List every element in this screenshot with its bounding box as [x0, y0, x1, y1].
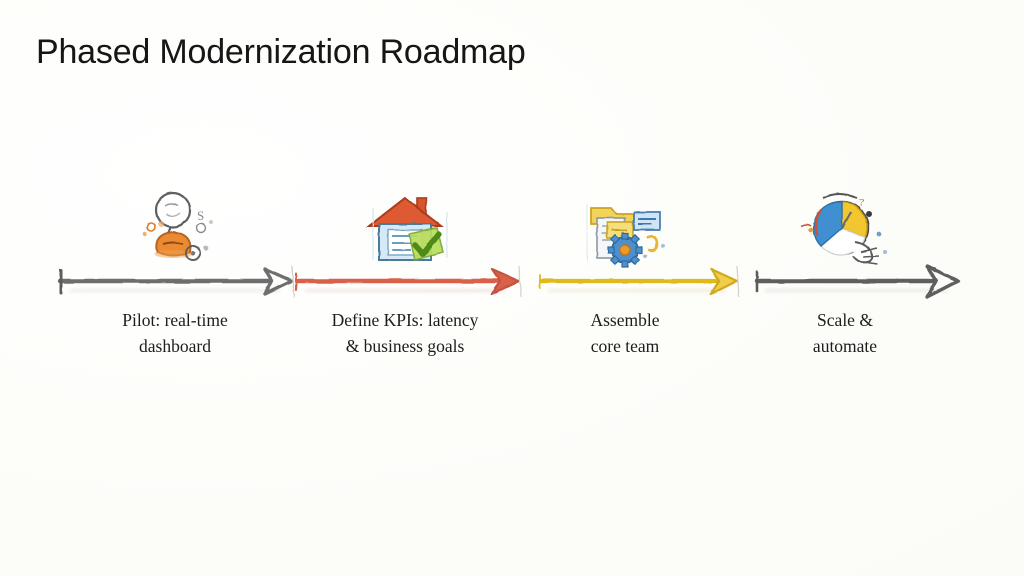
- person-with-speech-bubble-icon: S: [55, 190, 295, 270]
- stage-1-label-line1: Pilot: real-time: [122, 310, 227, 330]
- stage-2-label-line1: Define KPIs: latency: [332, 310, 479, 330]
- stage-1-label-line2: dashboard: [55, 334, 295, 360]
- stage-3-label-line2: core team: [505, 334, 745, 360]
- stage-2-label-line2: & business goals: [285, 334, 525, 360]
- stage-1-label: Pilot: real-time dashboard: [55, 308, 295, 360]
- stage-4-label-line2: automate: [725, 334, 965, 360]
- page-title: Phased Modernization Roadmap: [36, 33, 526, 72]
- pie-chart-clock-hand-icon: ?: [725, 190, 965, 270]
- diagram-canvas: Phased Modernization Roadmap: [0, 0, 1024, 576]
- stage-4-label-line1: Scale &: [817, 310, 873, 330]
- svg-text:S: S: [197, 208, 204, 223]
- stage-3-label-line1: Assemble: [590, 310, 659, 330]
- stage-2-label: Define KPIs: latency & business goals: [285, 308, 525, 360]
- svg-text:?: ?: [859, 197, 864, 209]
- roadmap-stage-3[interactable]: Assemble core team: [505, 190, 745, 375]
- folder-documents-gear-icon: [505, 190, 745, 270]
- stage-3-label: Assemble core team: [505, 308, 745, 360]
- roadmap-stage-4[interactable]: ? Scale & automate: [725, 190, 965, 375]
- roadmap-stage-1[interactable]: S Pilot: real-time dashboard: [55, 190, 295, 375]
- stage-4-label: Scale & automate: [725, 308, 965, 360]
- house-checklist-checkmark-icon: [285, 190, 525, 270]
- roadmap-stage-2[interactable]: Define KPIs: latency & business goals: [285, 190, 525, 375]
